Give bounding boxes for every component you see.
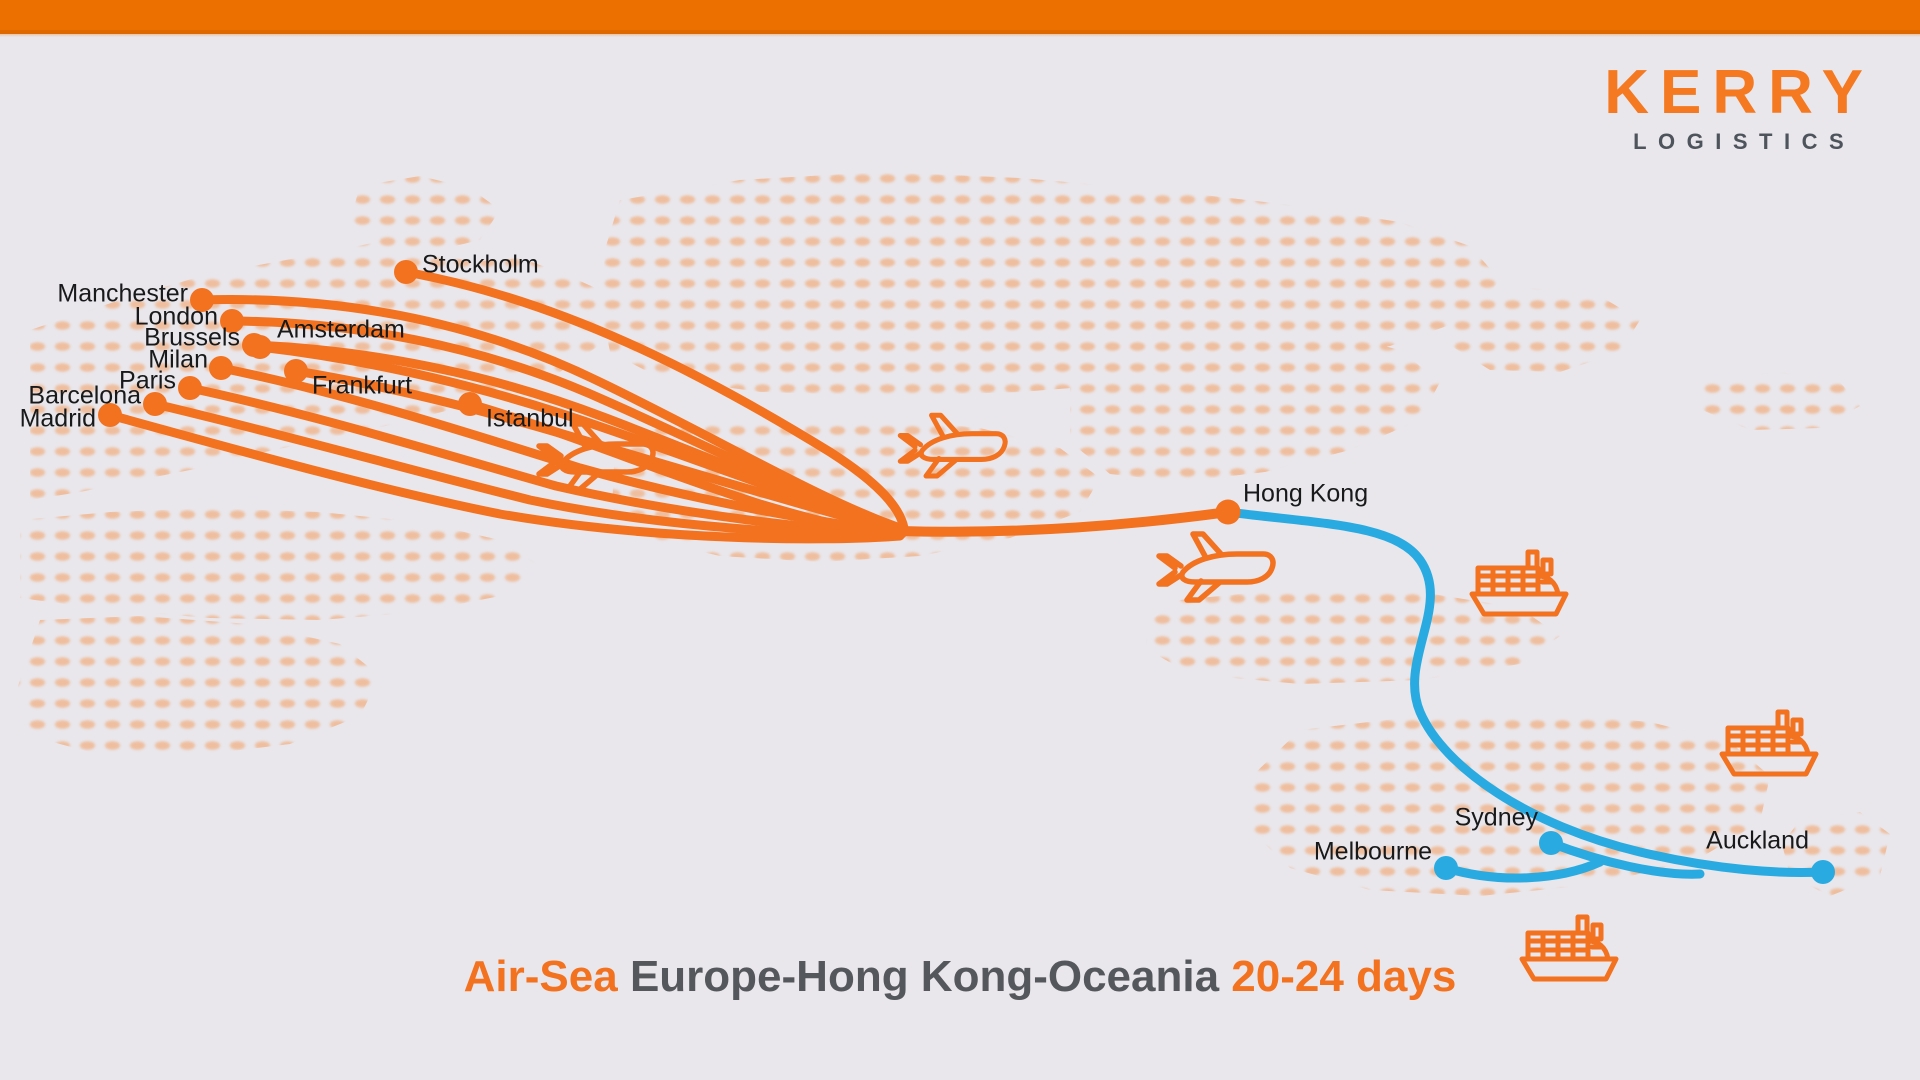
ship-icon-1 bbox=[1472, 552, 1566, 614]
city-label-auckland: Auckland bbox=[1706, 829, 1809, 854]
sea-route-melbourne-link bbox=[1446, 862, 1600, 878]
node-frankfurt bbox=[284, 359, 308, 383]
node-amsterdam bbox=[248, 335, 272, 359]
city-label-amsterdam: Amsterdam bbox=[277, 318, 405, 343]
city-label-hongkong: Hong Kong bbox=[1243, 482, 1368, 507]
route-caption: Air-Sea Europe-Hong Kong-Oceania 20-24 d… bbox=[0, 952, 1920, 1002]
node-sydney bbox=[1539, 831, 1563, 855]
caption-transit: 20-24 days bbox=[1231, 952, 1456, 1001]
node-barcelona bbox=[143, 392, 167, 416]
node-milan bbox=[209, 356, 233, 380]
airplane-icon-2 bbox=[900, 415, 1005, 476]
infographic-canvas: KERRY LOGISTICS bbox=[0, 0, 1920, 1080]
node-paris bbox=[178, 376, 202, 400]
city-label-madrid: Madrid bbox=[20, 407, 96, 432]
route-network bbox=[0, 0, 1920, 1080]
caption-mode: Air-Sea bbox=[464, 952, 618, 1001]
node-auckland bbox=[1811, 860, 1835, 884]
air-route-group bbox=[110, 272, 1228, 539]
city-label-istanbul: Istanbul bbox=[486, 407, 574, 432]
city-label-sydney: Sydney bbox=[1455, 806, 1538, 831]
airplane-icon-3 bbox=[1159, 534, 1273, 600]
city-label-melbourne: Melbourne bbox=[1314, 840, 1432, 865]
node-stockholm bbox=[394, 260, 418, 284]
air-route-trunk-hongkong bbox=[900, 512, 1228, 532]
node-melbourne bbox=[1434, 856, 1458, 880]
node-hongkong bbox=[1216, 500, 1241, 525]
node-istanbul bbox=[458, 392, 482, 416]
city-label-frankfurt: Frankfurt bbox=[312, 374, 412, 399]
city-label-stockholm: Stockholm bbox=[422, 253, 539, 278]
caption-corridor: Europe-Hong Kong-Oceania bbox=[630, 952, 1219, 1001]
ship-icon-2 bbox=[1722, 712, 1816, 774]
